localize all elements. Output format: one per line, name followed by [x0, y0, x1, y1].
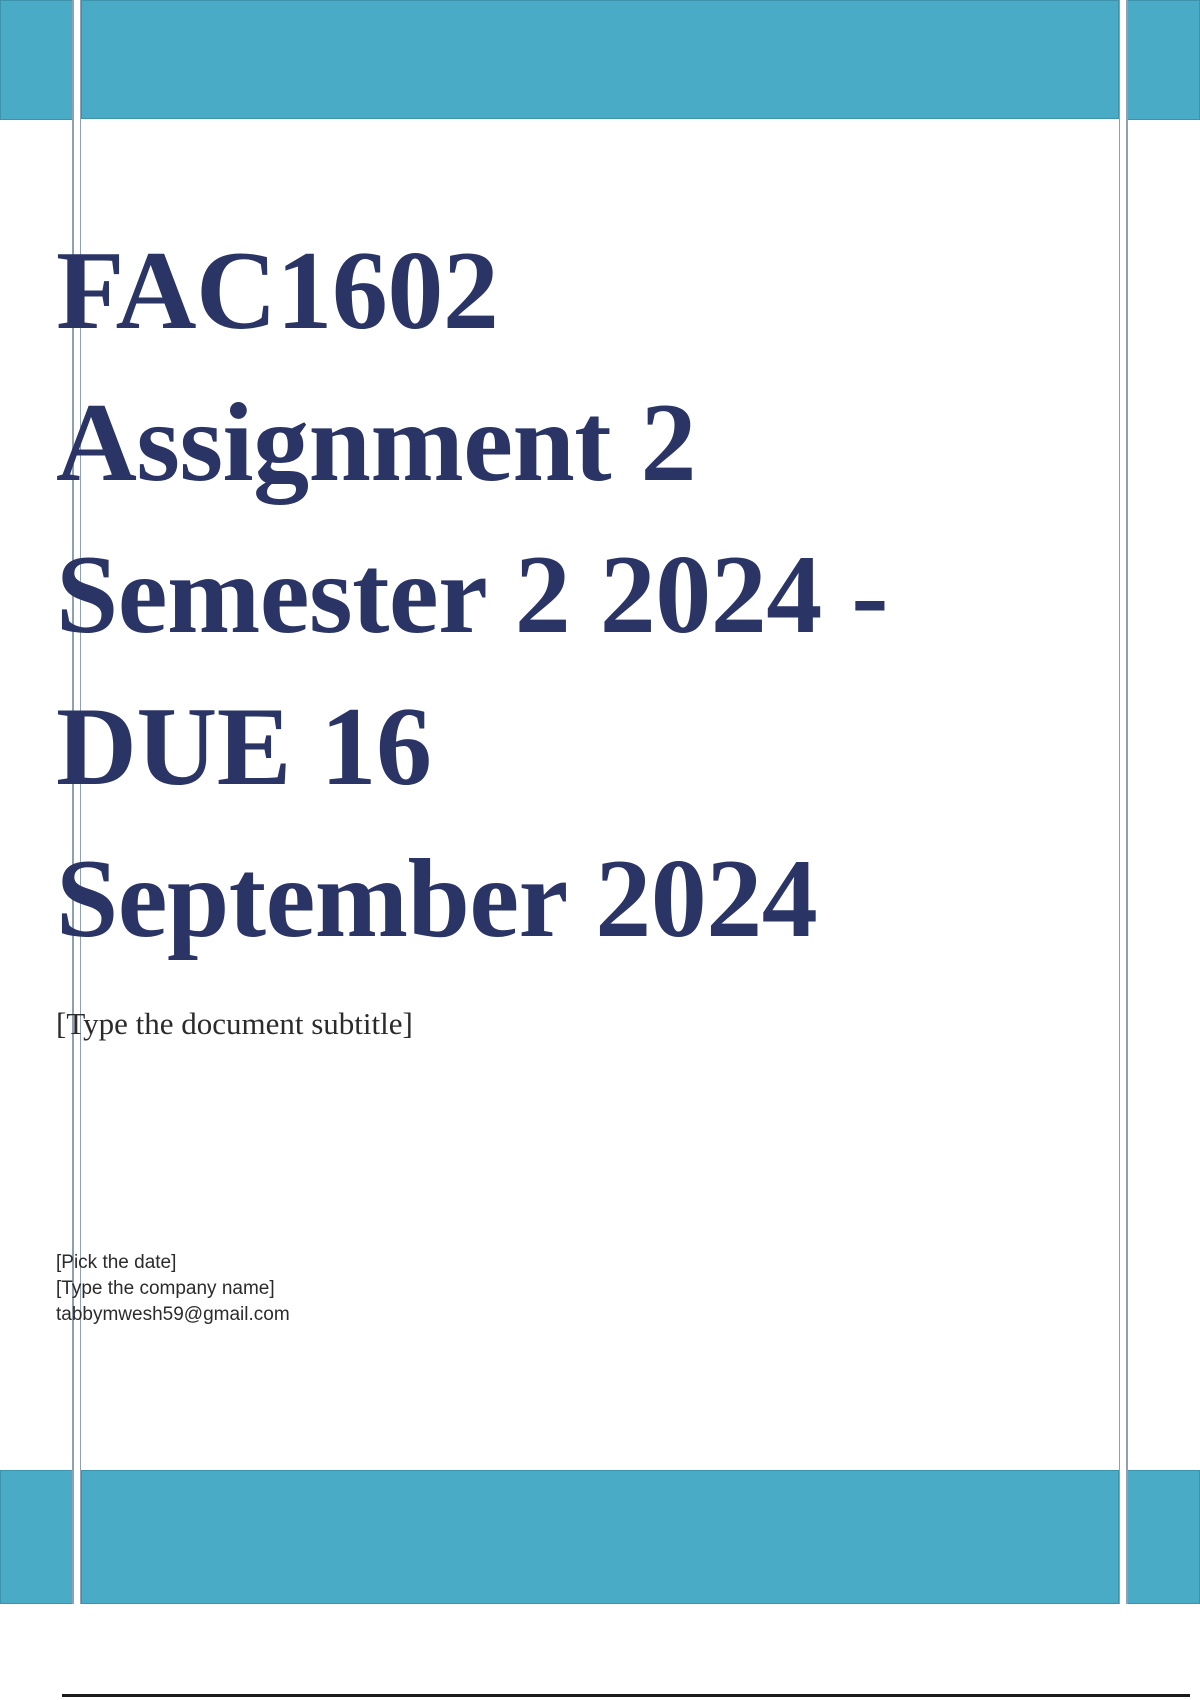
cover-top-band	[81, 0, 1119, 119]
right-outer-divider-rule	[1126, 0, 1128, 1604]
left-frame-bottom-band	[0, 1470, 73, 1604]
document-meta-block: [Pick the date] [Type the company name] …	[56, 1250, 656, 1328]
document-page: FAC1602 Assignment 2 Semester 2 2024 - D…	[0, 0, 1200, 1700]
meta-date: [Pick the date]	[56, 1250, 656, 1276]
footer-horizontal-rule	[62, 1694, 1190, 1697]
document-subtitle: [Type the document subtitle]	[56, 975, 956, 1043]
title-block: FAC1602 Assignment 2 Semester 2 2024 - D…	[56, 215, 956, 1043]
right-frame-bottom-band	[1127, 1470, 1200, 1604]
cover-bottom-band	[81, 1470, 1119, 1604]
meta-email: tabbymwesh59@gmail.com	[56, 1302, 656, 1328]
right-frame-column	[1127, 0, 1200, 1604]
document-title: FAC1602 Assignment 2 Semester 2 2024 - D…	[56, 215, 956, 975]
left-frame-top-band	[0, 0, 73, 120]
right-frame-top-band	[1127, 0, 1200, 120]
meta-company-name: [Type the company name]	[56, 1276, 656, 1302]
